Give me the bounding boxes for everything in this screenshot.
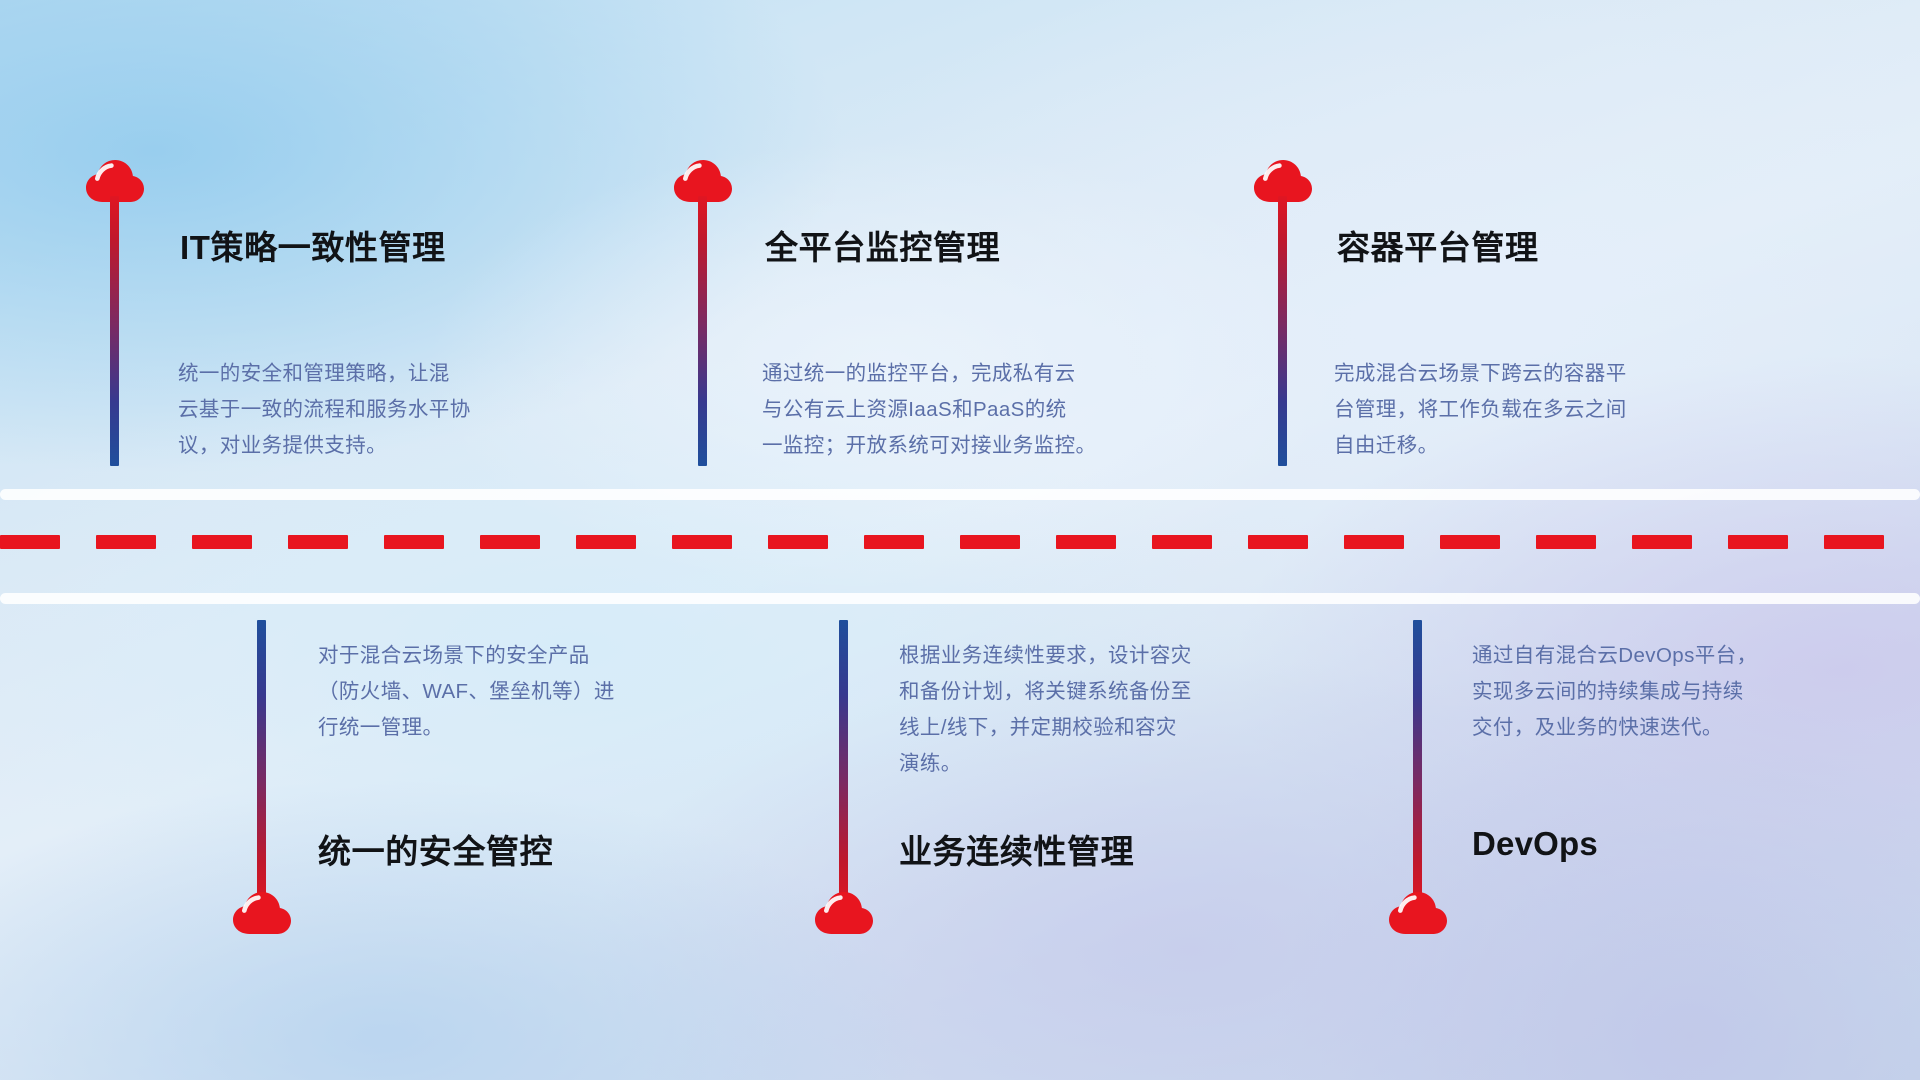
card-title: 统一的安全管控 [318, 825, 553, 873]
card-title: 业务连续性管理 [899, 825, 1134, 873]
divider-dash [1536, 535, 1596, 549]
divider-dash [1440, 535, 1500, 549]
divider-dash [1152, 535, 1212, 549]
divider-dash [768, 535, 828, 549]
cloud-icon [813, 890, 875, 936]
card-body: 完成混合云场景下跨云的容器平 台管理，将工作负载在多云之间 自由迁移。 [1334, 356, 1774, 464]
card-title: IT策略一致性管理 [180, 221, 446, 269]
divider-dash [1056, 535, 1116, 549]
divider-dash [576, 535, 636, 549]
divider-dash [1728, 535, 1788, 549]
pin-stem [839, 620, 848, 908]
divider-dash [480, 535, 540, 549]
pin-stem [257, 620, 266, 908]
divider-dash [288, 535, 348, 549]
divider-dash [384, 535, 444, 549]
card-title: 容器平台管理 [1337, 221, 1539, 269]
pin-stem [698, 196, 707, 466]
divider-dash [672, 535, 732, 549]
card-body: 对于混合云场景下的安全产品 （防火墙、WAF、堡垒机等）进 行统一管理。 [318, 638, 748, 746]
card-body: 统一的安全和管理策略，让混 云基于一致的流程和服务水平协 议，对业务提供支持。 [178, 356, 608, 464]
card-title: 全平台监控管理 [765, 221, 1000, 269]
divider-dash [1632, 535, 1692, 549]
infographic-canvas: IT策略一致性管理 统一的安全和管理策略，让混 云基于一致的流程和服务水平协 议… [0, 0, 1920, 1080]
divider-dash [1824, 535, 1884, 549]
pin-stem [1278, 196, 1287, 466]
divider-dash [1248, 535, 1308, 549]
cloud-icon [231, 890, 293, 936]
divider-dash [192, 535, 252, 549]
divider-dash [1344, 535, 1404, 549]
pin-stem [110, 196, 119, 466]
pin-stem [1413, 620, 1422, 908]
cloud-icon [1387, 890, 1449, 936]
card-body: 根据业务连续性要求，设计容灾 和备份计划，将关键系统备份至 线上/线下，并定期校… [899, 638, 1339, 782]
divider-dashed-line [0, 535, 1920, 549]
card-title: DevOps [1472, 825, 1598, 863]
divider-rail-top [0, 489, 1920, 500]
card-body: 通过自有混合云DevOps平台， 实现多云间的持续集成与持续 交付，及业务的快速… [1472, 638, 1912, 746]
card-body: 通过统一的监控平台，完成私有云 与公有云上资源IaaS和PaaS的统 一监控；开… [762, 356, 1214, 464]
divider-dash [960, 535, 1020, 549]
divider-dash [864, 535, 924, 549]
divider-dash [0, 535, 60, 549]
divider-rail-bottom [0, 593, 1920, 604]
divider-dash [96, 535, 156, 549]
